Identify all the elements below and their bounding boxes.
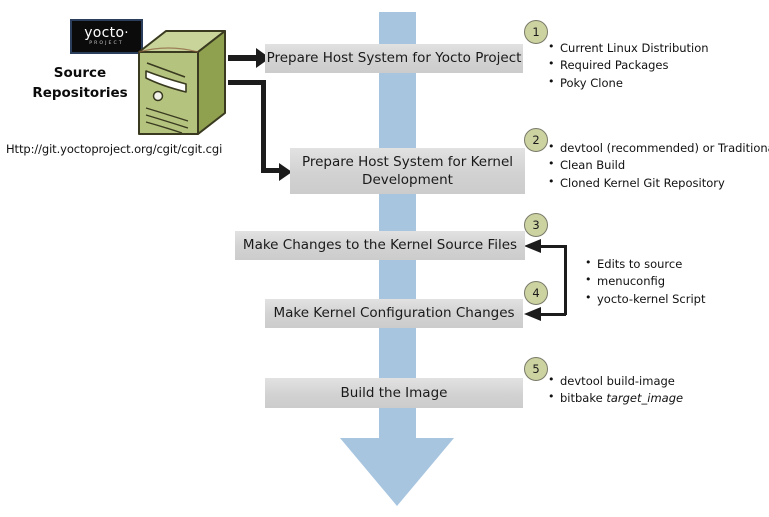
list-item: Cloned Kernel Git Repository <box>548 175 725 192</box>
process-box-5-label: Build the Image <box>341 384 448 402</box>
process-box-2-label: Prepare Host System for Kernel Developme… <box>290 153 525 189</box>
list-item: bitbake target_image <box>548 390 683 407</box>
step-number-2: 2 <box>524 128 548 152</box>
process-box-make-config-changes[interactable]: Make Kernel Configuration Changes <box>265 299 523 328</box>
feedback-line-to-step3 <box>541 245 566 248</box>
feedback-arrow-head-step3 <box>524 239 541 253</box>
step-5-bullet-list: devtool build-image bitbake target_image <box>548 373 683 408</box>
logo-subtitle: PROJECT <box>89 42 124 47</box>
logo-wordmark-text: yocto <box>84 25 124 41</box>
process-box-prepare-host-yocto[interactable]: Prepare Host System for Yocto Project <box>265 44 523 73</box>
process-box-4-label: Make Kernel Configuration Changes <box>273 304 514 322</box>
step-1-bullet-list: Current Linux Distribution Required Pack… <box>548 40 709 92</box>
step-number-5: 5 <box>524 357 548 381</box>
source-label-line1: Source <box>20 64 140 84</box>
steps-3-4-bullet-list: Edits to source menuconfig yocto-kernel … <box>585 256 706 308</box>
logo-dot-icon: · <box>124 26 128 41</box>
process-box-3-label: Make Changes to the Kernel Source Files <box>243 236 517 254</box>
feedback-line-vertical <box>564 245 567 315</box>
main-flow-arrow-shaft <box>379 12 416 440</box>
connector-line-to-step1 <box>228 55 258 61</box>
list-item: Edits to source <box>585 256 706 273</box>
step-2-bullet-list: devtool (recommended) or Traditional eSD… <box>548 140 725 192</box>
feedback-arrow-head-step4 <box>524 307 541 321</box>
bitbake-target-placeholder: target_image <box>606 391 683 405</box>
diagram-canvas: yocto· PROJECT Source Repositories Http:… <box>0 0 769 517</box>
list-item: Current Linux Distribution <box>548 40 709 57</box>
process-box-make-source-changes[interactable]: Make Changes to the Kernel Source Files <box>235 231 525 260</box>
list-item: yocto-kernel Script <box>585 291 706 308</box>
source-label-line2: Repositories <box>20 84 140 104</box>
list-item: devtool build-image <box>548 373 683 390</box>
bitbake-command-prefix: bitbake <box>560 391 606 405</box>
logo-wordmark: yocto· <box>84 26 129 40</box>
step-number-4: 4 <box>524 281 548 305</box>
step-number-1: 1 <box>524 20 548 44</box>
list-item: devtool (recommended) or Traditional eSD… <box>548 140 720 157</box>
list-item: Required Packages <box>548 57 709 74</box>
process-box-1-label: Prepare Host System for Yocto Project <box>267 49 522 67</box>
step-number-3: 3 <box>524 213 548 237</box>
list-item: Clean Build <box>548 157 725 174</box>
yocto-project-logo: yocto· PROJECT <box>70 19 143 54</box>
feedback-line-to-step4 <box>541 313 566 316</box>
list-item: Poky Clone <box>548 75 709 92</box>
connector-line-to-step2-vertical <box>261 80 266 173</box>
process-box-build-image[interactable]: Build the Image <box>265 378 523 408</box>
main-flow-arrow-head <box>340 438 454 506</box>
source-repositories-url: Http://git.yoctoproject.org/cgit/cgit.cg… <box>6 142 236 156</box>
list-item: menuconfig <box>585 273 706 290</box>
process-box-prepare-host-kernel[interactable]: Prepare Host System for Kernel Developme… <box>290 148 525 194</box>
server-tower-icon <box>136 28 228 138</box>
source-repositories-label: Source Repositories <box>20 64 140 103</box>
